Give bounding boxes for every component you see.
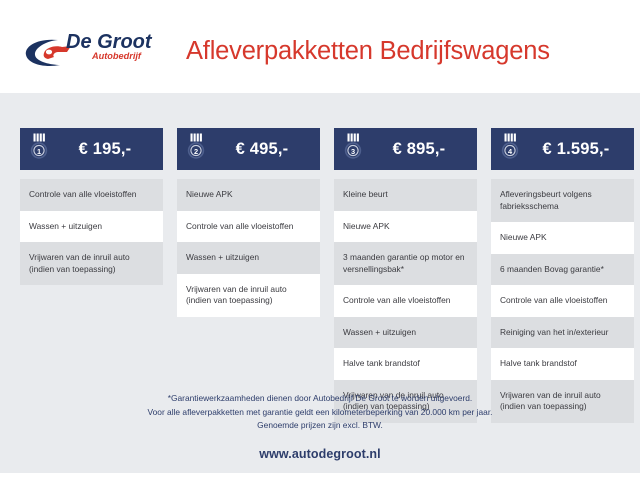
list-item: 3 maanden garantie op motor en versnelli… (334, 242, 477, 285)
package-price-4: € 1.595,- (524, 140, 634, 159)
medal-rank-icon-2: 2 (184, 133, 208, 163)
poster-root: De Groot Autobedrijf Afleverpakketten Be… (0, 0, 640, 480)
list-item: Nieuwe APK (177, 179, 320, 211)
footer: *Garantiewerkzaamheden dienen door Autob… (0, 392, 640, 461)
list-item: Controle van alle vloeistoffen (20, 179, 163, 211)
package-card-2[interactable]: 2 € 495,- Nieuwe APK Controle van alle v… (177, 128, 320, 317)
package-item-list-4: Afleveringsbeurt volgens fabrieksschema … (491, 179, 634, 423)
medal-rank-icon-3: 3 (341, 133, 365, 163)
page-title: Afleverpakketten Bedrijfswagens (186, 37, 550, 66)
list-item: Wassen + uitzuigen (20, 211, 163, 243)
package-item-list-1: Controle van alle vloeistoffen Wassen + … (20, 179, 163, 285)
package-header-3: 3 € 895,- (334, 128, 477, 170)
website-url[interactable]: www.autodegroot.nl (0, 447, 640, 461)
list-item: Controle van alle vloeistoffen (334, 285, 477, 317)
list-item: Nieuwe APK (334, 211, 477, 243)
list-item: Reiniging van het in/exterieur (491, 317, 634, 349)
svg-text:Autobedrijf: Autobedrijf (91, 51, 142, 61)
list-item: 6 maanden Bovag garantie* (491, 254, 634, 286)
logo-graphic: De Groot Autobedrijf (22, 26, 167, 74)
bottom-strip (0, 473, 640, 480)
list-item: Afleveringsbeurt volgens fabrieksschema (491, 179, 634, 222)
package-header-1: 1 € 195,- (20, 128, 163, 170)
package-price-3: € 895,- (367, 140, 477, 159)
list-item: Vrijwaren van de inruil auto (indien van… (177, 274, 320, 317)
list-item: Wassen + uitzuigen (177, 242, 320, 274)
disclaimer-line-2: Voor alle afleverpakketten met garantie … (0, 406, 640, 420)
medal-rank-icon-4: 4 (498, 133, 522, 163)
medal-rank-number-1: 1 (37, 146, 41, 155)
package-card-4[interactable]: 4 € 1.595,- Afleveringsbeurt volgens fab… (491, 128, 634, 423)
list-item: Controle van alle vloeistoffen (177, 211, 320, 243)
list-item: Halve tank brandstof (491, 348, 634, 380)
degroot-logo[interactable]: De Groot Autobedrijf (22, 26, 167, 74)
package-price-1: € 195,- (53, 140, 163, 159)
package-header-4: 4 € 1.595,- (491, 128, 634, 170)
list-item: Kleine beurt (334, 179, 477, 211)
medal-rank-number-2: 2 (194, 146, 198, 155)
package-item-list-3: Kleine beurt Nieuwe APK 3 maanden garant… (334, 179, 477, 423)
package-columns: 1 € 195,- Controle van alle vloeistoffen… (0, 128, 640, 423)
disclaimer-line-1: *Garantiewerkzaamheden dienen door Autob… (0, 392, 640, 406)
svg-text:De Groot: De Groot (66, 31, 153, 53)
package-item-list-2: Nieuwe APK Controle van alle vloeistoffe… (177, 179, 320, 317)
list-item: Nieuwe APK (491, 222, 634, 254)
package-header-2: 2 € 495,- (177, 128, 320, 170)
list-item: Controle van alle vloeistoffen (491, 285, 634, 317)
package-card-3[interactable]: 3 € 895,- Kleine beurt Nieuwe APK 3 maan… (334, 128, 477, 423)
list-item: Halve tank brandstof (334, 348, 477, 380)
medal-rank-icon-1: 1 (27, 133, 51, 163)
package-card-1[interactable]: 1 € 195,- Controle van alle vloeistoffen… (20, 128, 163, 285)
medal-rank-number-3: 3 (351, 146, 355, 155)
list-item: Vrijwaren van de inruil auto (indien van… (20, 242, 163, 285)
package-price-2: € 495,- (210, 140, 320, 159)
disclaimer-line-3: Genoemde prijzen zijn excl. BTW. (0, 419, 640, 433)
header-band: De Groot Autobedrijf Afleverpakketten Be… (0, 0, 640, 93)
list-item: Wassen + uitzuigen (334, 317, 477, 349)
